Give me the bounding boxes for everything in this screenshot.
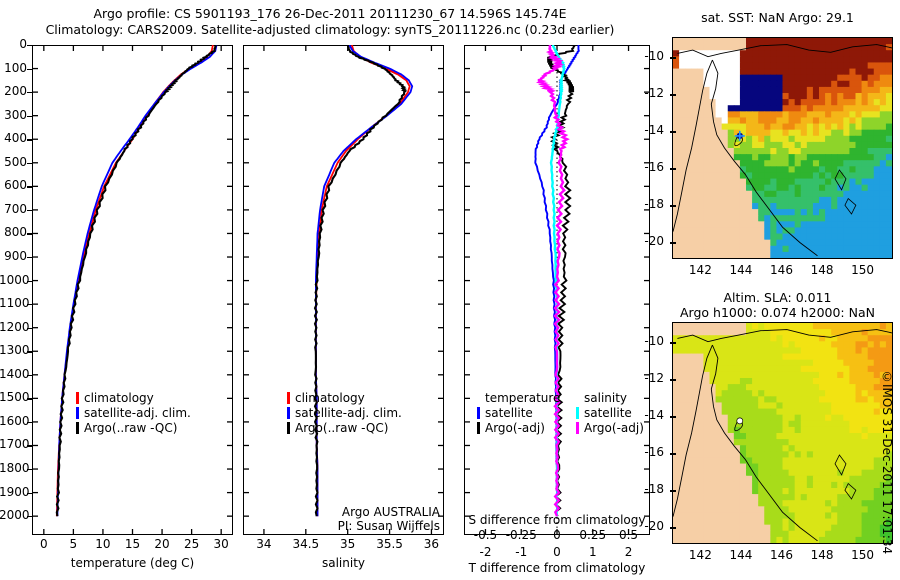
map-y-tick-label: -10 — [638, 49, 664, 63]
map-y-tick-mark — [670, 94, 676, 95]
y-tick-mark — [27, 493, 32, 494]
legend-label: climatology — [295, 392, 365, 404]
y-tick-mark — [27, 375, 32, 376]
salinity-difference-x-axis: -0.5-0.2500.250.5 — [464, 528, 650, 546]
legend-color-swatch — [76, 407, 79, 419]
difference-legend-temperature: temperaturesatelliteArgo(-adj) — [477, 390, 560, 435]
map-y-tick-mark — [670, 57, 676, 58]
map-y-tick-mark — [670, 342, 676, 343]
difference-plot-area — [464, 45, 650, 535]
y-tick-mark — [27, 45, 32, 46]
y-tick-label: 1500 — [0, 390, 27, 404]
map-y-tick-mark — [670, 168, 676, 169]
y-tick-mark — [27, 163, 32, 164]
temperature-difference-axis-label: T difference from climatology — [460, 561, 654, 575]
legend-label: Argo(-adj) — [584, 422, 644, 434]
legend-item: satellite — [576, 405, 644, 420]
legend-item: satellite-adj. clim. — [76, 405, 191, 420]
temperature-x-axis-label: temperature (deg C) — [32, 556, 233, 570]
y-tick-mark — [27, 257, 32, 258]
legend-color-swatch — [76, 392, 79, 404]
temperature-legend: climatologysatellite-adj. clim.Argo(..ra… — [76, 390, 191, 435]
figure-title-line1: Argo profile: CS 5901193_176 26-Dec-2011… — [0, 6, 660, 21]
legend-label: Argo(..raw -QC) — [84, 422, 177, 434]
salinity-plot-area — [243, 45, 444, 535]
x-tick-label: 2 — [601, 545, 657, 559]
sst-map-title: sat. SST: NaN Argo: 29.1 — [665, 10, 890, 25]
y-tick-mark — [27, 422, 32, 423]
y-tick-label: 200 — [0, 84, 27, 98]
legend-label: satellite-adj. clim. — [295, 407, 402, 419]
y-tick-label: 1600 — [0, 414, 27, 428]
y-tick-label: 1400 — [0, 367, 27, 381]
figure-title-line2: Climatology: CARS2009. Satellite-adjuste… — [0, 22, 660, 37]
y-tick-mark — [27, 69, 32, 70]
temperature-x-axis: 051015202530 — [32, 537, 233, 555]
map-y-tick-label: -14 — [638, 408, 664, 422]
y-tick-mark — [27, 210, 32, 211]
salinity-x-axis-label: salinity — [243, 556, 444, 570]
y-tick-mark — [27, 304, 32, 305]
y-tick-mark — [27, 328, 32, 329]
y-tick-label: 1000 — [0, 273, 27, 287]
map-y-tick-label: -12 — [638, 86, 664, 100]
legend-label: climatology — [84, 392, 154, 404]
y-tick-label: 1100 — [0, 296, 27, 310]
legend-item: climatology — [287, 390, 402, 405]
legend-color-swatch — [287, 422, 290, 434]
y-tick-mark — [27, 233, 32, 234]
map-y-tick-mark — [670, 205, 676, 206]
sla-map-title-line2: Argo h1000: 0.074 h2000: NaN — [655, 305, 900, 320]
legend-label: satellite — [584, 407, 632, 419]
map-x-tick-label: 150 — [835, 263, 891, 277]
map-y-tick-mark — [670, 379, 676, 380]
legend-label: satellite-adj. clim. — [84, 407, 191, 419]
map-y-tick-label: -18 — [638, 197, 664, 211]
salinity-difference-axis-label: S difference from climatology — [460, 513, 654, 527]
sst-map-x-axis: 142144146148150 — [672, 261, 893, 279]
temperature-y-axis: 0100200300400500600700800900100011001200… — [0, 45, 32, 535]
sla-map-y-axis: -10-12-14-16-18-20 — [640, 322, 670, 544]
map-y-tick-label: -18 — [638, 482, 664, 496]
y-tick-mark — [27, 469, 32, 470]
y-tick-label: 1300 — [0, 343, 27, 357]
map-y-tick-label: -20 — [638, 519, 664, 533]
legend-color-swatch — [477, 422, 480, 434]
map-y-tick-mark — [670, 490, 676, 491]
y-tick-label: 500 — [0, 155, 27, 169]
legend-label: Argo(-adj) — [485, 422, 545, 434]
sla-map-x-axis: 142144146148150 — [672, 546, 893, 564]
legend-label: satellite — [485, 407, 533, 419]
map-y-tick-mark — [670, 453, 676, 454]
map-y-tick-label: -14 — [638, 123, 664, 137]
y-tick-mark — [27, 186, 32, 187]
y-tick-mark — [27, 281, 32, 282]
x-tick-label: 36 — [403, 537, 459, 551]
sla-map-title-line1: Altim. SLA: 0.011 — [665, 290, 890, 305]
y-tick-label: 100 — [0, 61, 27, 75]
sst-map-panel — [672, 37, 893, 259]
sst-map-y-axis: -10-12-14-16-18-20 — [640, 37, 670, 259]
map-y-tick-label: -10 — [638, 334, 664, 348]
map-y-tick-mark — [670, 242, 676, 243]
y-tick-mark — [27, 351, 32, 352]
y-tick-mark — [27, 92, 32, 93]
legend-item: Argo(..raw -QC) — [287, 420, 402, 435]
y-tick-label: 600 — [0, 178, 27, 192]
legend-header: salinity — [576, 390, 644, 405]
y-tick-label: 1900 — [0, 485, 27, 499]
legend-item: satellite-adj. clim. — [287, 405, 402, 420]
map-y-tick-label: -16 — [638, 160, 664, 174]
credit-line1: Argo AUSTRALIA — [244, 505, 440, 519]
temperature-plot-area — [32, 45, 233, 535]
y-tick-label: 1800 — [0, 461, 27, 475]
y-tick-label: 800 — [0, 225, 27, 239]
map-y-tick-mark — [670, 416, 676, 417]
difference-legend-salinity: salinitysatelliteArgo(-adj) — [576, 390, 644, 435]
salinity-legend: climatologysatellite-adj. clim.Argo(..ra… — [287, 390, 402, 435]
sla-map-panel — [672, 322, 893, 544]
legend-color-swatch — [76, 422, 79, 434]
legend-color-swatch — [287, 392, 290, 404]
legend-color-swatch — [576, 407, 579, 419]
map-y-tick-label: -20 — [638, 234, 664, 248]
legend-color-swatch — [576, 422, 579, 434]
y-tick-label: 300 — [0, 108, 27, 122]
y-tick-label: 700 — [0, 202, 27, 216]
y-tick-label: 400 — [0, 131, 27, 145]
y-tick-label: 1200 — [0, 320, 27, 334]
y-tick-mark — [27, 516, 32, 517]
y-tick-mark — [27, 116, 32, 117]
y-tick-label: 900 — [0, 249, 27, 263]
y-tick-mark — [27, 139, 32, 140]
legend-item: Argo(-adj) — [576, 420, 644, 435]
salinity-x-axis: 3434.53535.536 — [243, 537, 444, 555]
legend-item: climatology — [76, 390, 191, 405]
legend-item: satellite — [477, 405, 560, 420]
y-tick-label: 1700 — [0, 437, 27, 451]
y-tick-label: 2000 — [0, 508, 27, 522]
credit-line2: PI: Susan Wijffels — [244, 519, 440, 533]
map-y-tick-label: -12 — [638, 371, 664, 385]
legend-color-swatch — [287, 407, 290, 419]
map-y-tick-mark — [670, 527, 676, 528]
map-y-tick-label: -16 — [638, 445, 664, 459]
legend-item: Argo(-adj) — [477, 420, 560, 435]
legend-label: Argo(..raw -QC) — [295, 422, 388, 434]
map-y-tick-mark — [670, 131, 676, 132]
legend-color-swatch — [477, 407, 480, 419]
legend-item: Argo(..raw -QC) — [76, 420, 191, 435]
legend-header: temperature — [477, 390, 560, 405]
y-tick-mark — [27, 398, 32, 399]
copyright-text: ©IMOS 31-Dec-2011 17:01:34 — [880, 370, 894, 554]
y-tick-mark — [27, 445, 32, 446]
y-tick-label: 0 — [0, 37, 27, 51]
